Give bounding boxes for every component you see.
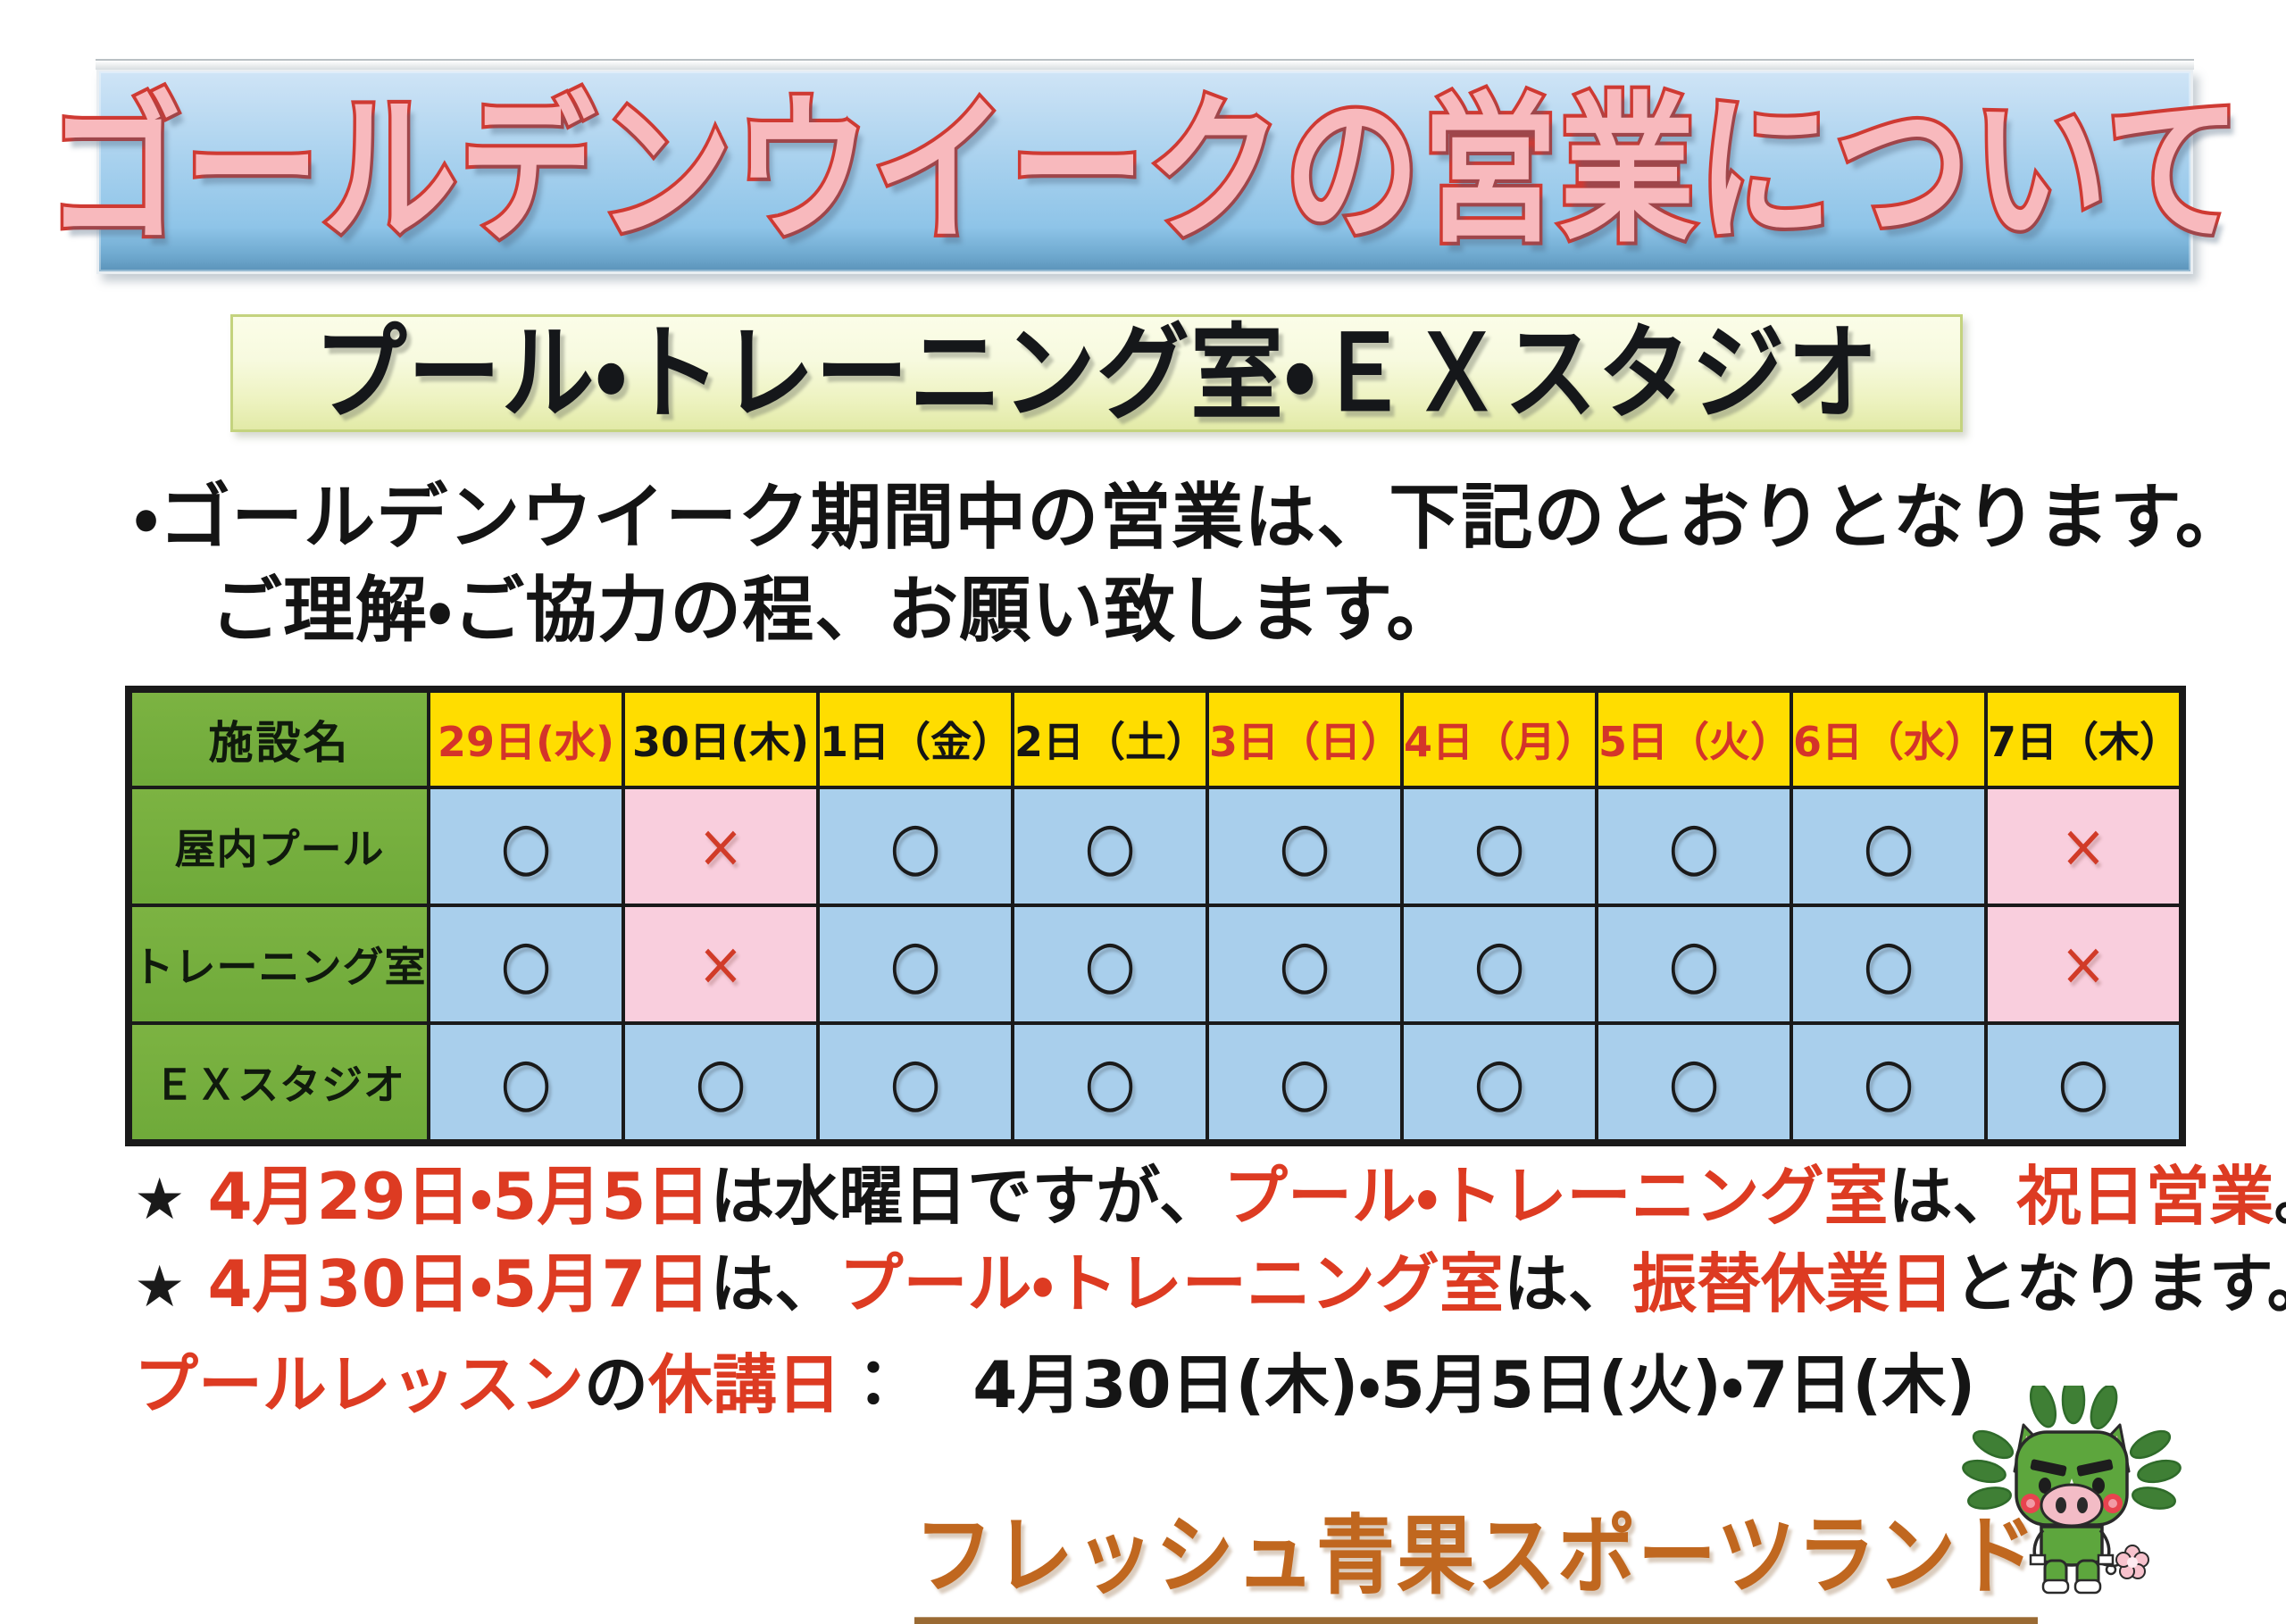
intro-paragraph: ・ゴールデンウイーク期間中の営業は、下記のとおりとなります。 ご理解・ご協力の程… <box>134 471 2188 657</box>
open-mark: ○ <box>500 931 552 997</box>
closed-mark: × <box>697 817 744 877</box>
table-row: トレーニング室 ○ × ○ ○ ○ ○ ○ ○ × <box>132 907 2179 1021</box>
cell-1-2: ○ <box>820 907 1011 1021</box>
header-day-8: 7日（木） <box>1988 693 2179 786</box>
note1-text-a: は水曜日ですが、 <box>710 1159 1223 1234</box>
cell-2-2: ○ <box>820 1025 1011 1139</box>
star-icon: ★ <box>134 1254 185 1320</box>
cell-0-0: ○ <box>430 789 622 904</box>
open-mark: ○ <box>500 1049 552 1115</box>
open-mark: ○ <box>1863 931 1915 997</box>
cell-2-6: ○ <box>1598 1025 1790 1139</box>
subtitle-banner: プール・トレーニング室・ＥＸスタジオ <box>230 314 1963 432</box>
cell-0-4: ○ <box>1209 789 1400 904</box>
note2-text-b: は、 <box>1504 1246 1632 1321</box>
cell-1-7: ○ <box>1793 907 1984 1021</box>
snout-icon <box>2041 1485 2102 1526</box>
cell-1-8: × <box>1988 907 2179 1021</box>
note1-dates: 4月29日・5月5日 <box>207 1159 710 1234</box>
header-day-1: 30日(木) <box>625 693 816 786</box>
cell-2-5: ○ <box>1404 1025 1595 1139</box>
lesson-cancellation-line: プールレッスンの休講日： 4月30日(木)・5月5日(火)・7日(木) <box>134 1346 1975 1423</box>
cell-0-3: ○ <box>1014 789 1206 904</box>
open-mark: ○ <box>1279 813 1331 879</box>
note2-text-c: となります。 <box>1954 1246 2286 1321</box>
header-day-3: 2日（土） <box>1014 693 1206 786</box>
cell-0-7: ○ <box>1793 789 1984 904</box>
lesson-status: 休講日 <box>648 1347 841 1422</box>
open-mark: ○ <box>889 813 941 879</box>
open-mark: ○ <box>1863 813 1915 879</box>
intro-line-1: ・ゴールデンウイーク期間中の営業は、下記のとおりとなります。 <box>134 471 2188 564</box>
lesson-dates: 4月30日(木)・5月5日(火)・7日(木) <box>972 1347 1975 1422</box>
intro-line-2: ご理解・ご協力の程、お願い致します。 <box>134 564 2188 657</box>
note1-status: 祝日営業 <box>2016 1159 2273 1234</box>
row-facility-2: ＥＸスタジオ <box>132 1025 427 1139</box>
title-banner: ゴールデンウイークの営業について <box>96 69 2193 274</box>
open-mark: ○ <box>1668 931 1720 997</box>
body-shape <box>2041 1527 2102 1565</box>
note2-facilities: プール・トレーニング室 <box>838 1246 1503 1321</box>
cell-1-0: ○ <box>430 907 622 1021</box>
schedule-table: 施設名 29日(水) 30日(木) 1日（金） 2日（土） 3日（日） 4日（月… <box>125 686 2186 1146</box>
note1-facilities: プール・トレーニング室 <box>1223 1159 1888 1234</box>
open-mark: ○ <box>2057 1049 2109 1115</box>
cell-0-8: × <box>1988 789 2179 904</box>
schedule-table-wrapper: 施設名 29日(水) 30日(木) 1日（金） 2日（土） 3日（日） 4日（月… <box>125 686 2161 1146</box>
cell-1-1: × <box>625 907 816 1021</box>
header-day-5: 4日（月） <box>1404 693 1595 786</box>
cell-0-2: ○ <box>820 789 1011 904</box>
open-mark: ○ <box>1473 813 1525 879</box>
cell-1-6: ○ <box>1598 907 1790 1021</box>
page-title: ゴールデンウイークの営業について <box>46 91 2242 251</box>
open-mark: ○ <box>889 1049 941 1115</box>
subtitle-text: プール・トレーニング室・ＥＸスタジオ <box>314 321 1880 425</box>
cell-1-4: ○ <box>1209 907 1400 1021</box>
cell-2-3: ○ <box>1014 1025 1206 1139</box>
header-day-2: 1日（金） <box>820 693 1011 786</box>
cell-0-6: ○ <box>1598 789 1790 904</box>
cell-1-3: ○ <box>1014 907 1206 1021</box>
cell-0-5: ○ <box>1404 789 1595 904</box>
table-row: 屋内プール ○ × ○ ○ ○ ○ ○ ○ × <box>132 789 2179 904</box>
note1-text-c: 。 <box>2274 1159 2286 1234</box>
row-facility-1: トレーニング室 <box>132 907 427 1021</box>
open-mark: ○ <box>1279 931 1331 997</box>
open-mark: ○ <box>1668 1049 1720 1115</box>
open-mark: ○ <box>500 813 552 879</box>
row-facility-0: 屋内プール <box>132 789 427 904</box>
open-mark: ○ <box>1084 931 1136 997</box>
cell-2-4: ○ <box>1209 1025 1400 1139</box>
table-row: ＥＸスタジオ ○ ○ ○ ○ ○ ○ ○ ○ ○ <box>132 1025 2179 1139</box>
note-line-2: ★ 4月30日・5月7日は、プール・トレーニング室は、振替休業日となります。 <box>134 1241 2206 1328</box>
header-day-0: 29日(水) <box>430 693 622 786</box>
note2-status: 振替休業日 <box>1632 1246 1954 1321</box>
header-day-7: 6日（水） <box>1793 693 1984 786</box>
cell-2-0: ○ <box>430 1025 622 1139</box>
note-line-1: ★ 4月29日・5月5日は水曜日ですが、プール・トレーニング室は、祝日営業。 <box>134 1153 2206 1241</box>
closed-mark: × <box>2060 935 2107 995</box>
open-mark: ○ <box>1084 813 1136 879</box>
note1-text-b: は、 <box>1888 1159 2016 1234</box>
facility-logo-text: フレッシュ青果スポーツランド <box>914 1487 2038 1624</box>
open-mark: ○ <box>1863 1049 1915 1115</box>
open-mark: ○ <box>1084 1049 1136 1115</box>
header-day-6: 5日（火） <box>1598 693 1790 786</box>
table-header-row: 施設名 29日(水) 30日(木) 1日（金） 2日（土） 3日（日） 4日（月… <box>132 693 2179 786</box>
open-mark: ○ <box>1668 813 1720 879</box>
note2-dates: 4月30日・5月7日 <box>207 1246 710 1321</box>
open-mark: ○ <box>1473 1049 1525 1115</box>
cell-0-1: × <box>625 789 816 904</box>
open-mark: ○ <box>1279 1049 1331 1115</box>
closed-mark: × <box>2060 817 2107 877</box>
open-mark: ○ <box>695 1049 747 1115</box>
cell-2-8: ○ <box>1988 1025 2179 1139</box>
star-icon: ★ <box>134 1167 185 1233</box>
cell-1-5: ○ <box>1404 907 1595 1021</box>
open-mark: ○ <box>889 931 941 997</box>
header-facility: 施設名 <box>132 693 427 786</box>
lesson-label: プールレッスン <box>134 1347 584 1422</box>
cell-2-7: ○ <box>1793 1025 1984 1139</box>
open-mark: ○ <box>1473 931 1525 997</box>
notes-section: ★ 4月29日・5月5日は水曜日ですが、プール・トレーニング室は、祝日営業。 ★… <box>134 1153 2206 1328</box>
closed-mark: × <box>697 935 744 995</box>
lesson-colon: ： <box>841 1347 905 1422</box>
note2-text-a: は、 <box>710 1246 838 1321</box>
header-day-4: 3日（日） <box>1209 693 1400 786</box>
lesson-particle: の <box>584 1347 648 1422</box>
green-boar-mascot <box>1938 1386 2188 1609</box>
cell-2-1: ○ <box>625 1025 816 1139</box>
